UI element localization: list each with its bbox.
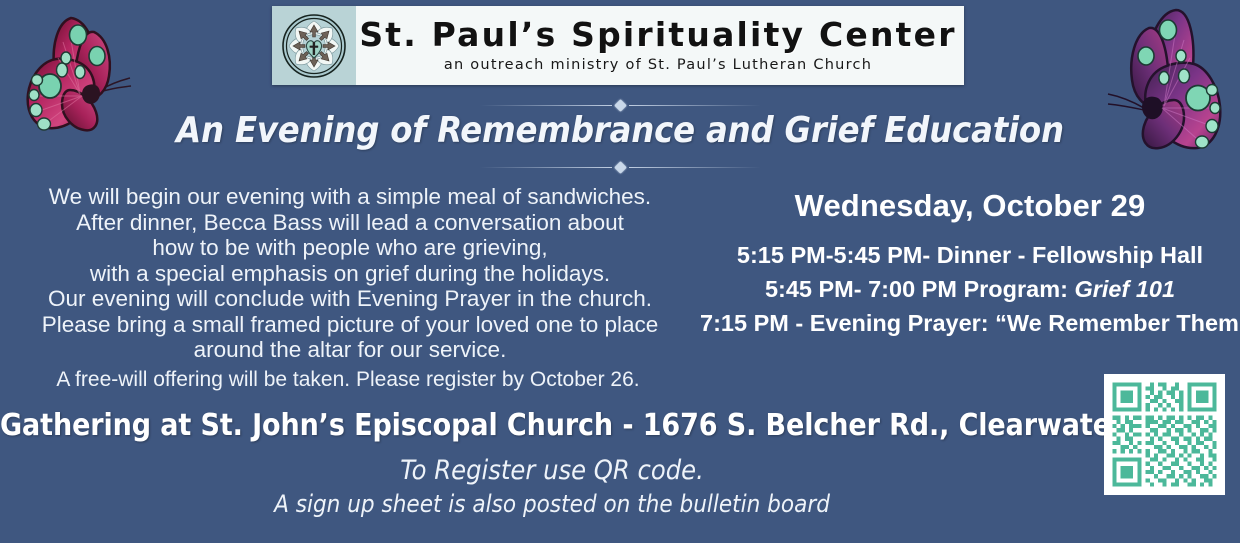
schedule-row: 5:15 PM-5:45 PM- Dinner - Fellowship Hal…	[700, 238, 1240, 272]
event-title: An Evening of Remembrance and Grief Educ…	[0, 110, 1240, 151]
schedule-row: 7:15 PM - Evening Prayer: “We Remember T…	[700, 306, 1240, 340]
description-line: After dinner, Becca Bass will lead a con…	[8, 210, 692, 236]
registration-qr-code[interactable]	[1104, 374, 1225, 495]
divider-rule-left	[480, 167, 612, 168]
divider-rule-right	[629, 105, 761, 106]
register-sub-text: A sign up sheet is also posted on the bu…	[0, 488, 1104, 520]
description-line: how to be with people who are grieving,	[8, 235, 692, 261]
register-main-text: To Register use QR code.	[0, 454, 1104, 488]
schedule-list: 5:15 PM-5:45 PM- Dinner - Fellowship Hal…	[700, 238, 1240, 340]
header-banner: St. Paul’s Spirituality Center an outrea…	[272, 6, 964, 85]
schedule-row-emphasis: Grief 101	[1074, 276, 1175, 302]
flyer-canvas: St. Paul’s Spirituality Center an outrea…	[0, 0, 1240, 543]
luther-rose-icon	[272, 6, 356, 85]
divider-gem-icon	[614, 161, 627, 174]
event-description: We will begin our evening with a simple …	[8, 184, 692, 363]
event-schedule: Wednesday, October 29 5:15 PM-5:45 PM- D…	[700, 188, 1240, 340]
event-date: Wednesday, October 29	[700, 188, 1240, 224]
divider-rule-left	[480, 105, 612, 106]
registration-instructions: To Register use QR code. A sign up sheet…	[0, 454, 1104, 520]
schedule-row-text: 5:15 PM-5:45 PM- Dinner - Fellowship Hal…	[737, 242, 1203, 268]
banner-text-group: St. Paul’s Spirituality Center an outrea…	[356, 6, 964, 85]
description-line: We will begin our evening with a simple …	[8, 184, 692, 210]
divider-rule-right	[629, 167, 761, 168]
event-location: Gathering at St. John’s Episcopal Church…	[0, 408, 1104, 443]
organization-title: St. Paul’s Spirituality Center	[359, 18, 956, 53]
description-line: Please bring a small framed picture of y…	[8, 312, 692, 338]
schedule-row-text: 7:15 PM - Evening Prayer: “We Remember T…	[700, 310, 1240, 336]
description-line: Our evening will conclude with Evening P…	[8, 286, 692, 312]
description-line: with a special emphasis on grief during …	[8, 261, 692, 287]
organization-subtitle: an outreach ministry of St. Paul’s Luthe…	[444, 57, 872, 73]
description-line: around the altar for our service.	[8, 337, 692, 363]
schedule-row: 5:45 PM- 7:00 PM Program: Grief 101	[700, 272, 1240, 306]
schedule-row-text: 5:45 PM- 7:00 PM Program:	[765, 276, 1075, 302]
ornamental-divider-bottom	[0, 160, 1240, 174]
offering-note: A free-will offering will be taken. Plea…	[8, 368, 688, 392]
